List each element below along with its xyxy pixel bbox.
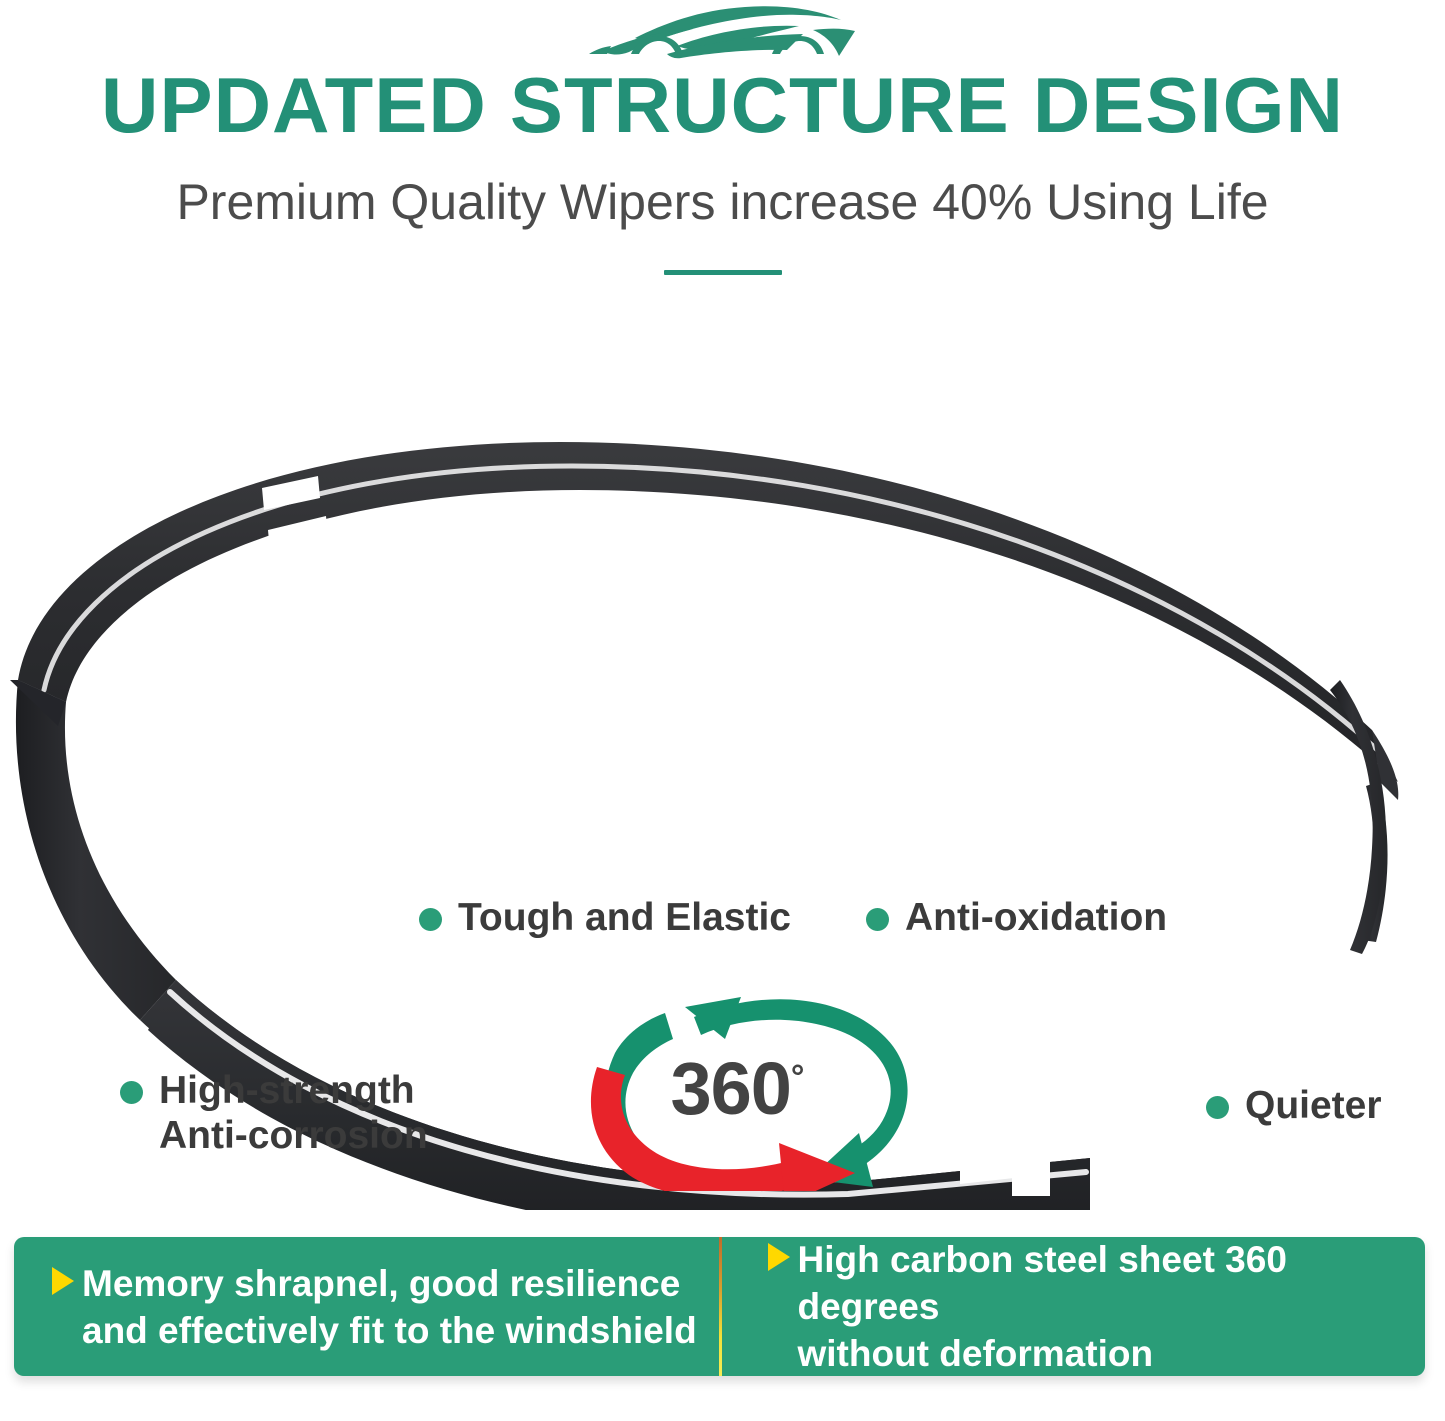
callout-label: Quieter bbox=[1245, 1083, 1382, 1128]
callout-label: Anti-oxidation bbox=[905, 895, 1167, 940]
page-title: UPDATED STRUCTURE DESIGN bbox=[0, 62, 1445, 148]
yellow-triangle-bullet bbox=[768, 1243, 790, 1271]
green-dot-bullet bbox=[866, 908, 889, 931]
callout-high-strength-anti-corrosion: High-strength Anti-corrosion bbox=[120, 1068, 428, 1158]
feature-summary-text: Memory shrapnel, good resilience and eff… bbox=[82, 1260, 697, 1354]
360-degree-rotation-icon: 360° bbox=[573, 991, 919, 1191]
feature-summary-item: Memory shrapnel, good resilience and eff… bbox=[52, 1260, 697, 1354]
header-divider-rule bbox=[664, 270, 782, 275]
yellow-triangle-bullet bbox=[52, 1267, 74, 1295]
callout-label: High-strength Anti-corrosion bbox=[159, 1068, 428, 1158]
green-dot-bullet bbox=[120, 1081, 143, 1104]
feature-summary-column-right: High carbon steel sheet 360 degrees with… bbox=[720, 1237, 1426, 1376]
feature-summary-column-left: Memory shrapnel, good resilience and eff… bbox=[14, 1237, 720, 1376]
callout-anti-oxidation: Anti-oxidation bbox=[866, 895, 1167, 940]
feature-summary-text: High carbon steel sheet 360 degrees with… bbox=[798, 1236, 1426, 1377]
product-hero-area: 360° Tough and Elastic Anti-oxidation Hi… bbox=[0, 330, 1445, 1210]
callout-quieter: Quieter bbox=[1206, 1083, 1382, 1128]
green-dot-bullet bbox=[1206, 1096, 1229, 1119]
callout-label: Tough and Elastic bbox=[458, 895, 791, 940]
sports-car-silhouette-icon bbox=[573, 2, 873, 64]
green-dot-bullet bbox=[419, 908, 442, 931]
page-subtitle: Premium Quality Wipers increase 40% Usin… bbox=[0, 172, 1445, 232]
feature-summary-item: High carbon steel sheet 360 degrees with… bbox=[768, 1236, 1426, 1377]
product-infographic-page: UPDATED STRUCTURE DESIGN Premium Quality… bbox=[0, 0, 1445, 1421]
panel-vertical-divider bbox=[719, 1237, 722, 1376]
callout-tough-and-elastic: Tough and Elastic bbox=[419, 895, 791, 940]
